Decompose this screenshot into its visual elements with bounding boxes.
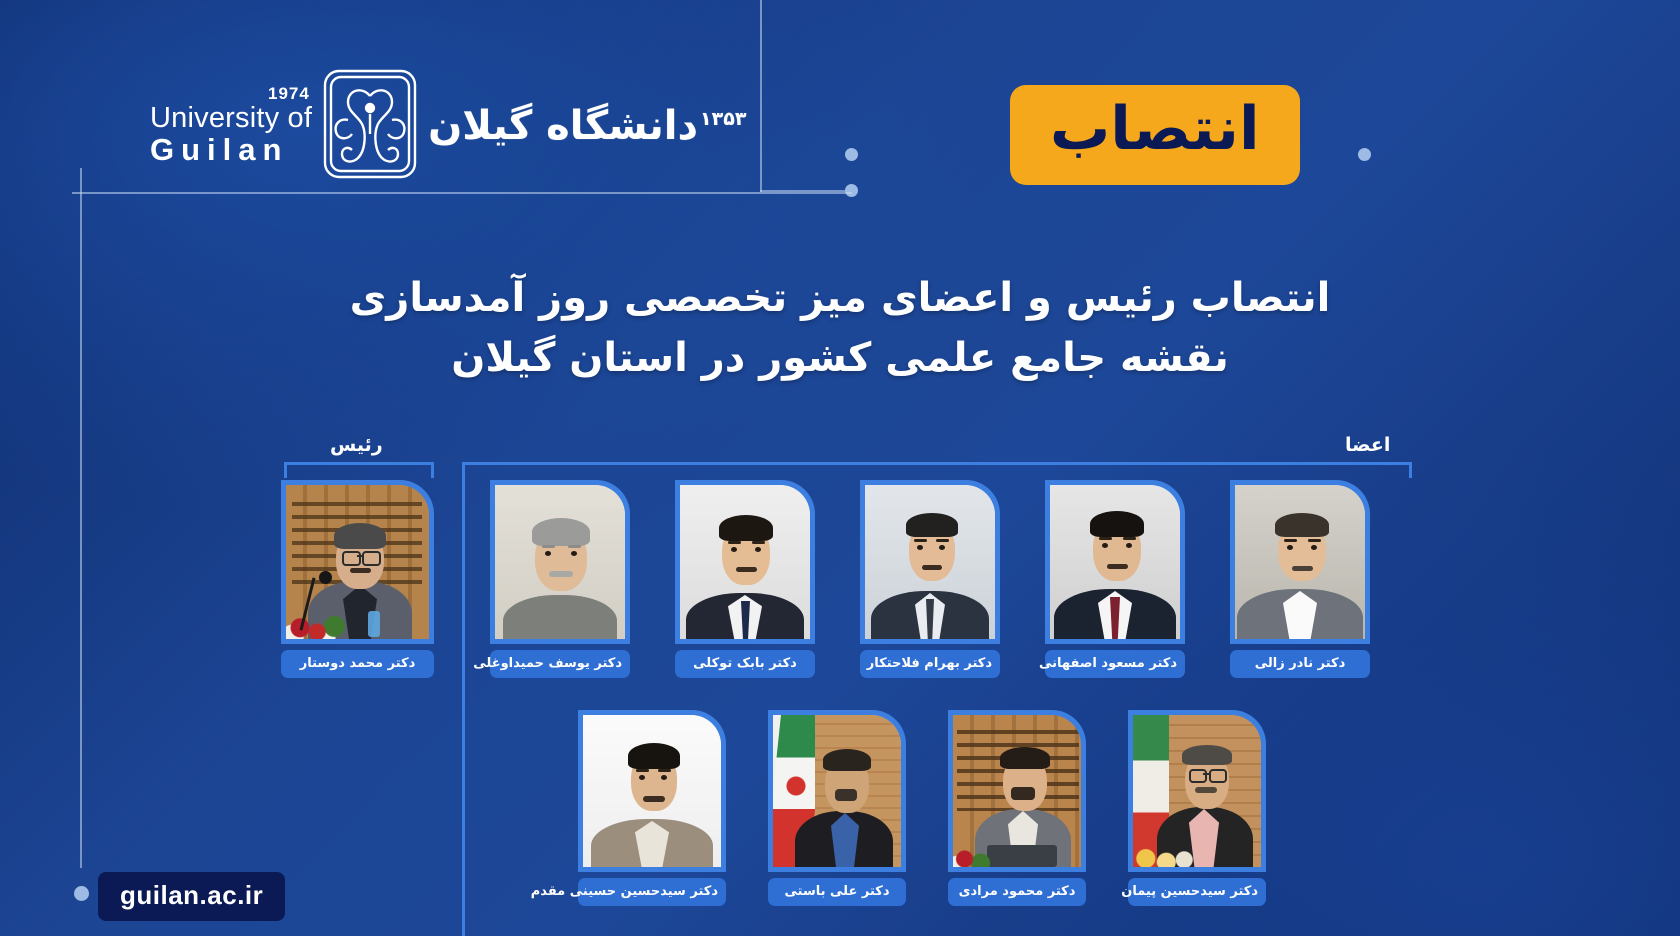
person-name: دکتر یوسف حمیداوغلی — [490, 650, 630, 678]
decor-hline-members-bracket — [462, 462, 1412, 465]
announcement-poster: 1974 University of Guilan ۱۳۵۳دانشگاه گی… — [0, 0, 1680, 936]
photo-frame — [1230, 480, 1370, 644]
decor-dot-right-1 — [845, 184, 858, 197]
photo-frame — [768, 710, 906, 872]
decor-hline-main — [72, 192, 852, 194]
announcement-badge: انتصاب — [1010, 85, 1300, 185]
page-title: انتصاب رئیس و اعضای میز تخصصی روز آمدساز… — [0, 268, 1680, 388]
avatar — [773, 715, 901, 867]
photo-frame — [860, 480, 1000, 644]
avatar — [1050, 485, 1180, 639]
person-name: دکتر نادر زالی — [1230, 650, 1370, 678]
person-card-member-9: دکتر سیدحسین پیمان — [1128, 710, 1266, 906]
person-name: دکتر بابک توکلی — [675, 650, 815, 678]
decor-dot-left-bottom — [74, 886, 89, 901]
person-name: دکتر محمود مرادی — [948, 878, 1086, 906]
decor-vline-members-right — [1409, 462, 1412, 478]
decor-dot-right-2 — [845, 148, 858, 161]
photo-frame — [490, 480, 630, 644]
guilan-emblem-icon — [322, 68, 418, 184]
website-url[interactable]: guilan.ac.ir — [98, 872, 285, 921]
headline-line-1: انتصاب رئیس و اعضای میز تخصصی روز آمدساز… — [0, 268, 1680, 328]
avatar — [286, 485, 429, 639]
decor-vline-top-right — [760, 0, 762, 192]
university-logo: 1974 University of Guilan ۱۳۵۳دانشگاه گی… — [150, 68, 752, 184]
decor-vline-chief-left — [284, 462, 287, 478]
person-card-member-5: دکتر نادر زالی — [1230, 480, 1370, 678]
decor-dot-far-right — [1358, 148, 1371, 161]
logo-persian-text: ۱۳۵۳دانشگاه گیلان — [428, 106, 746, 146]
person-card-member-2: دکتر بابک توکلی — [675, 480, 815, 678]
logo-university-word: University of — [150, 103, 312, 134]
person-card-member-4: دکتر مسعود اصفهانی — [1045, 480, 1185, 678]
person-name: دکتر سیدحسین پیمان — [1128, 878, 1266, 906]
logo-name-en: Guilan — [150, 134, 312, 167]
members-section-label: اعضا — [1345, 434, 1390, 456]
person-name: دکتر سیدحسین حسینی مقدم — [578, 878, 726, 906]
photo-frame — [578, 710, 726, 872]
photo-frame — [1128, 710, 1266, 872]
avatar — [1235, 485, 1365, 639]
photo-frame — [675, 480, 815, 644]
logo-year-en: 1974 — [268, 85, 312, 103]
photo-frame — [948, 710, 1086, 872]
photo-frame — [281, 480, 434, 644]
person-card-member-8: دکتر محمود مرادی — [948, 710, 1086, 906]
decor-vline-chief-right — [431, 462, 434, 478]
photo-frame — [1045, 480, 1185, 644]
logo-english-text: 1974 University of Guilan — [150, 85, 312, 167]
avatar — [953, 715, 1081, 867]
person-card-chief: دکتر محمد دوستار — [281, 480, 434, 678]
avatar — [680, 485, 810, 639]
decor-hline-chief-bracket — [284, 462, 434, 465]
person-name: دکتر محمد دوستار — [281, 650, 434, 678]
decor-vline-members-bracket — [462, 462, 465, 936]
person-card-member-6: دکتر سیدحسین حسینی مقدم — [578, 710, 726, 906]
headline-line-2: نقشه جامع علمی کشور در استان گیلان — [0, 328, 1680, 388]
chief-section-label: رئیس — [330, 434, 383, 456]
person-name: دکتر علی باستی — [768, 878, 906, 906]
avatar — [583, 715, 721, 867]
avatar — [495, 485, 625, 639]
logo-year-fa: ۱۳۵۳ — [700, 108, 746, 130]
avatar — [1133, 715, 1261, 867]
person-name: دکتر مسعود اصفهانی — [1045, 650, 1185, 678]
person-name: دکتر بهرام فلاحتکار — [860, 650, 1000, 678]
person-card-member-1: دکتر یوسف حمیداوغلی — [490, 480, 630, 678]
avatar — [865, 485, 995, 639]
person-card-member-3: دکتر بهرام فلاحتکار — [860, 480, 1000, 678]
logo-name-fa: دانشگاه گیلان — [428, 103, 698, 149]
person-card-member-7: دکتر علی باستی — [768, 710, 906, 906]
